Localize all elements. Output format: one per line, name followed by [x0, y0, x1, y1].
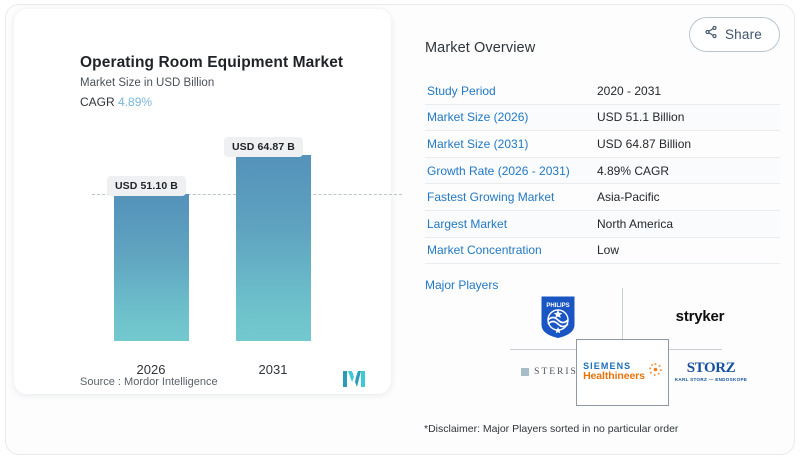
stryker-logo-text: stryker — [676, 308, 725, 325]
table-row: Study Period 2020 - 2031 — [425, 78, 780, 105]
table-row: Largest Market North America — [425, 211, 780, 238]
chart-cagr-label: CAGR — [80, 95, 115, 109]
row-value: USD 51.1 Billion — [597, 110, 684, 124]
row-key: Market Size (2026) — [427, 110, 597, 124]
steris-logo-text: STERIS — [534, 367, 578, 377]
row-key: Fastest Growing Market — [427, 190, 597, 204]
svg-text:PHILIPS: PHILIPS — [546, 303, 569, 309]
source-prefix: Source : — [80, 376, 121, 388]
steris-logo-wrap: STERIS — [521, 367, 578, 377]
row-key: Growth Rate (2026 - 2031) — [427, 164, 597, 178]
steris-logo: STERIS — [507, 360, 592, 384]
bar-label-2031: USD 64.87 B — [224, 137, 303, 157]
share-button-label: Share — [725, 27, 762, 42]
source-name: Mordor Intelligence — [124, 376, 218, 388]
bar-chart-plot: USD 51.10 B USD 64.87 B 2026 2031 — [28, 119, 391, 349]
source-label: Source : Mordor Intelligence — [80, 376, 218, 388]
bar-2031[interactable] — [236, 155, 311, 341]
row-value: Low — [597, 243, 619, 257]
table-row: Market Size (2031) USD 64.87 Billion — [425, 131, 780, 158]
row-value: 4.89% CAGR — [597, 164, 669, 178]
row-key: Study Period — [427, 84, 597, 98]
bar-2026[interactable] — [114, 194, 189, 341]
table-row: Growth Rate (2026 - 2031) 4.89% CAGR — [425, 158, 780, 185]
siemens-logo-wrap: SIEMENS Healthineers — [583, 362, 663, 382]
row-key: Market Size (2031) — [427, 137, 597, 151]
source-row: Source : Mordor Intelligence — [80, 371, 365, 392]
disclaimer-text: *Disclaimer: Major Players sorted in no … — [424, 423, 678, 435]
table-row: Fastest Growing Market Asia-Pacific — [425, 184, 780, 211]
siemens-logo-text: SIEMENS Healthineers — [583, 362, 645, 382]
chart-card: Operating Room Equipment Market Market S… — [14, 9, 391, 394]
row-value: USD 64.87 Billion — [597, 137, 691, 151]
storz-logo-wrap: STORZ KARL STORZ — ENDOSKOPE — [675, 361, 748, 382]
share-icon — [704, 25, 718, 44]
row-value: Asia-Pacific — [597, 190, 660, 204]
storz-line-2: KARL STORZ — ENDOSKOPE — [675, 378, 748, 383]
mordor-intelligence-logo — [343, 371, 365, 392]
philips-logo: PHILIPS — [527, 292, 589, 342]
karl-storz-logo: STORZ KARL STORZ — ENDOSKOPE — [671, 354, 751, 390]
siemens-line-2: Healthineers — [583, 371, 645, 382]
table-row: Market Size (2026) USD 51.1 Billion — [425, 105, 780, 132]
chart-title: Operating Room Equipment Market — [80, 54, 343, 72]
siemens-healthineers-logo: SIEMENS Healthineers — [581, 354, 665, 390]
stryker-logo: stryker — [645, 302, 755, 330]
chart-cagr-value: 4.89% — [118, 95, 152, 109]
overview-table: Study Period 2020 - 2031 Market Size (20… — [425, 78, 780, 264]
storz-line-1: STORZ — [675, 361, 748, 376]
share-button[interactable]: Share — [689, 17, 780, 52]
screenshot-root: Share Operating Room Equipment Market Ma… — [0, 0, 800, 459]
major-players-grid: PHILIPS stryker STERIS SIEMENS Healthine… — [505, 288, 785, 406]
table-row: Market Concentration Low — [425, 238, 780, 265]
siemens-dots-icon — [648, 362, 663, 382]
row-value: North America — [597, 217, 673, 231]
bar-label-2026: USD 51.10 B — [107, 176, 186, 196]
row-key: Largest Market — [427, 217, 597, 231]
chart-subtitle: Market Size in USD Billion — [80, 77, 214, 89]
steris-square-icon — [521, 368, 529, 376]
market-overview-panel: Market Overview Study Period 2020 - 2031… — [425, 40, 780, 292]
row-key: Market Concentration — [427, 243, 597, 257]
row-value: 2020 - 2031 — [597, 84, 661, 98]
chart-cagr: CAGR 4.89% — [80, 95, 152, 109]
